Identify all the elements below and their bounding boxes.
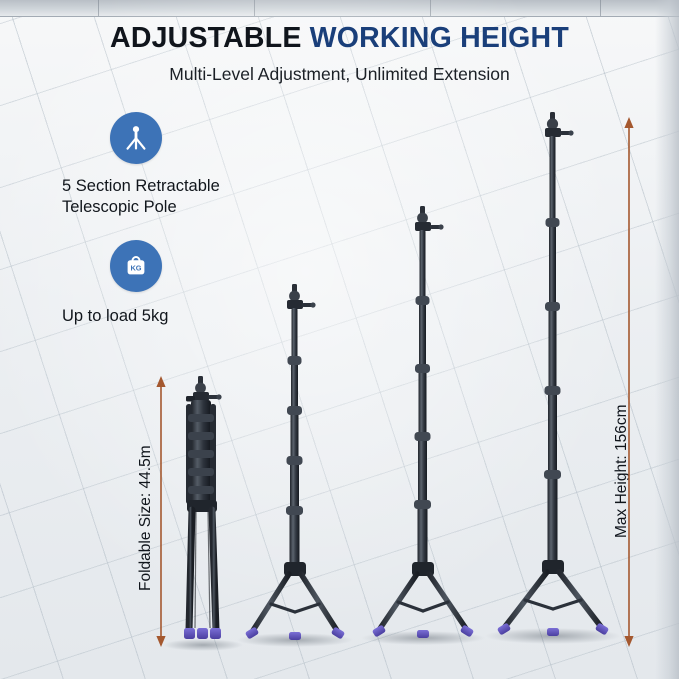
tripod-extended-max-head — [545, 112, 574, 137]
tripod-extended-low — [237, 284, 353, 647]
tripod-extended-low-legs — [252, 574, 338, 634]
tripod-folded-feet — [184, 628, 221, 639]
max-height-arrow — [624, 117, 633, 647]
product-illustration — [0, 0, 679, 679]
foldable-size-arrow — [156, 376, 165, 647]
tripod-extended-mid-head — [415, 206, 444, 231]
tripod-extended-mid — [361, 206, 485, 645]
tripod-folded-legs — [189, 510, 216, 630]
tripod-extended-max-legs — [504, 572, 602, 630]
product-infographic: ADJUSTABLE WORKING HEIGHT Multi-Level Ad… — [0, 0, 679, 679]
tripod-folded-head — [186, 376, 222, 402]
tripod-folded — [163, 376, 243, 651]
tripod-extended-low-head — [287, 284, 316, 309]
tripod-extended-mid-legs — [379, 574, 467, 632]
tripod-extended-max — [485, 112, 621, 644]
